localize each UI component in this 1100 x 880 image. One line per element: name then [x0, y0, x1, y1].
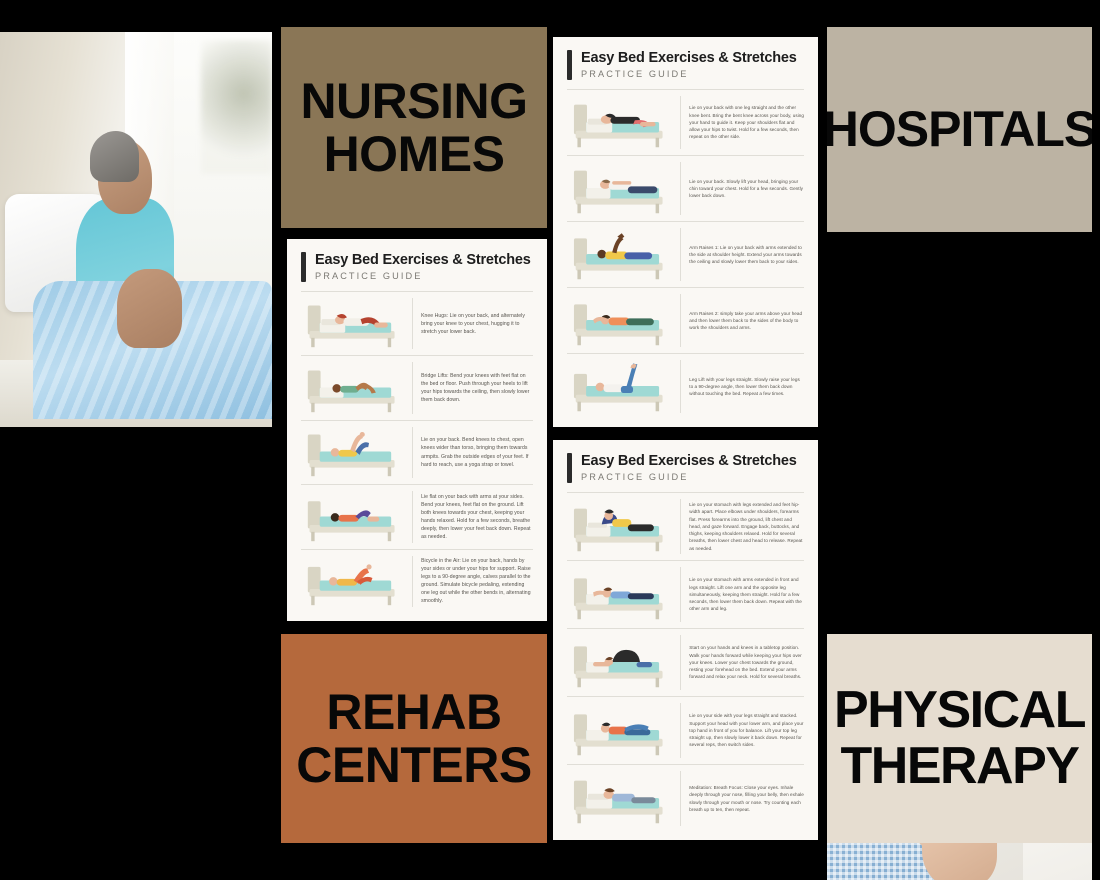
exercise-text: Lie on your side with your legs straight…	[680, 703, 804, 758]
accent-bar	[567, 50, 572, 80]
bed-illustration-neck-curl	[567, 162, 671, 215]
guide-subtitle: PRACTICE GUIDE	[581, 472, 797, 482]
panel-nursing-line-2: HOMES	[324, 128, 505, 181]
exercise-row: Lie on your stomach with legs extended a…	[567, 492, 804, 560]
exercise-text: Lie on your stomach with legs extended a…	[680, 499, 804, 554]
exercise-text: Lie on your stomach with arms extended i…	[680, 567, 804, 622]
bed-illustration-arm-raise-front	[567, 228, 671, 281]
bed-illustration-leg-lift	[567, 360, 671, 413]
panel-hospitals: HOSPITALS	[827, 27, 1092, 232]
exercise-row: Lie on your side with your legs straight…	[567, 696, 804, 764]
guide-subtitle: PRACTICE GUIDE	[315, 271, 531, 281]
exercise-text: Bridge Lifts: Bend your knees with feet …	[412, 362, 533, 413]
panel-therapy-line-2: THERAPY	[841, 739, 1079, 794]
bed-illustration-knee-to-chest	[301, 491, 403, 542]
panel-rehab-centers: REHAB CENTERS	[281, 634, 547, 843]
photo-sitting-patient	[0, 32, 272, 427]
guide-card-bottom: Easy Bed Exercises & Stretches PRACTICE …	[553, 440, 818, 840]
guide-card-left: Easy Bed Exercises & Stretches PRACTICE …	[287, 239, 547, 621]
exercise-row: Lie on your back with one leg straight a…	[567, 89, 804, 155]
exercise-row: Lie on your back. Bend knees to chest, o…	[301, 420, 533, 484]
exercise-list: Lie on your stomach with legs extended a…	[567, 492, 804, 832]
bed-illustration-meditation	[567, 771, 671, 826]
accent-bar	[567, 453, 572, 483]
guide-header: Easy Bed Exercises & Stretches PRACTICE …	[567, 50, 804, 80]
bed-illustration-sphinx	[567, 499, 671, 554]
bed-illustration-supine-twist	[567, 96, 671, 149]
foliage	[201, 40, 272, 174]
exercise-list: Lie on your back with one leg straight a…	[567, 89, 804, 419]
exercise-row: Lie on your stomach with arms extended i…	[567, 560, 804, 628]
exercise-text: Lie flat on your back with arms at your …	[412, 491, 533, 542]
bed-illustration-child-pose	[567, 635, 671, 690]
exercise-row: Knee Hugs: Lie on your back, and alterna…	[301, 291, 533, 355]
exercise-row: Bicycle in the Air: Lie on your back, ha…	[301, 549, 533, 613]
exercise-text: Leg Lift with your legs straight. Slowly…	[680, 360, 804, 413]
panel-physical-therapy: PHYSICAL THERAPY	[827, 634, 1092, 843]
panel-nursing-homes: NURSING HOMES	[281, 27, 547, 228]
guide-title: Easy Bed Exercises & Stretches	[581, 453, 797, 470]
guide-subtitle: PRACTICE GUIDE	[581, 69, 797, 79]
exercise-text: Lie on your back with one leg straight a…	[680, 96, 804, 149]
patient-arm	[117, 269, 182, 348]
exercise-row: Lie on your back. Slowly lift your head,…	[567, 155, 804, 221]
exercise-row: Lie flat on your back with arms at your …	[301, 484, 533, 548]
exercise-row: Meditation: Breath Focus: Close your eye…	[567, 764, 804, 832]
bed-illustration-side-leg-lift	[567, 703, 671, 758]
bed-illustration-bicycle	[301, 556, 403, 607]
guide-card-top: Easy Bed Exercises & Stretches PRACTICE …	[553, 37, 818, 427]
panel-rehab-line-2: CENTERS	[296, 739, 531, 792]
accent-bar	[301, 252, 306, 282]
panel-nursing-line-1: NURSING	[300, 75, 527, 128]
exercise-text: Lie on your back. Slowly lift your head,…	[680, 162, 804, 215]
exercise-row: Arm Raises 1: Lie on your back with arms…	[567, 221, 804, 287]
bed-illustration-happy-baby	[301, 427, 403, 478]
patient-hair	[90, 131, 139, 182]
bed-illustration-knee-hug	[301, 298, 403, 349]
exercise-text: Meditation: Breath Focus: Close your eye…	[680, 771, 804, 826]
guide-header: Easy Bed Exercises & Stretches PRACTICE …	[567, 453, 804, 483]
panel-rehab-line-1: REHAB	[326, 686, 501, 739]
exercise-text: Start on your hands and knees in a table…	[680, 635, 804, 690]
bed-illustration-arm-raise-overhead	[567, 294, 671, 347]
exercise-row: Start on your hands and knees in a table…	[567, 628, 804, 696]
exercise-row: Leg Lift with your legs straight. Slowly…	[567, 353, 804, 419]
panel-therapy-line-1: PHYSICAL	[834, 683, 1085, 738]
exercise-text: Bicycle in the Air: Lie on your back, ha…	[412, 556, 533, 607]
exercise-text: Arm Raises 2: simply take your arms abov…	[680, 294, 804, 347]
guide-title: Easy Bed Exercises & Stretches	[315, 252, 531, 269]
exercise-text: Arm Raises 1: Lie on your back with arms…	[680, 228, 804, 281]
bed-illustration-bird-dog	[567, 567, 671, 622]
exercise-row: Arm Raises 2: simply take your arms abov…	[567, 287, 804, 353]
guide-title: Easy Bed Exercises & Stretches	[581, 50, 797, 67]
exercise-list: Knee Hugs: Lie on your back, and alterna…	[301, 291, 533, 613]
exercise-row: Bridge Lifts: Bend your knees with feet …	[301, 355, 533, 419]
panel-hospitals-line-1: HOSPITALS	[827, 103, 1092, 156]
bed-illustration-bridge	[301, 362, 403, 413]
exercise-text: Knee Hugs: Lie on your back, and alterna…	[412, 298, 533, 349]
guide-header: Easy Bed Exercises & Stretches PRACTICE …	[301, 252, 533, 282]
collage-canvas: NURSING HOMES Easy Bed Exercises & Stret…	[0, 0, 1100, 880]
exercise-text: Lie on your back. Bend knees to chest, o…	[412, 427, 533, 478]
